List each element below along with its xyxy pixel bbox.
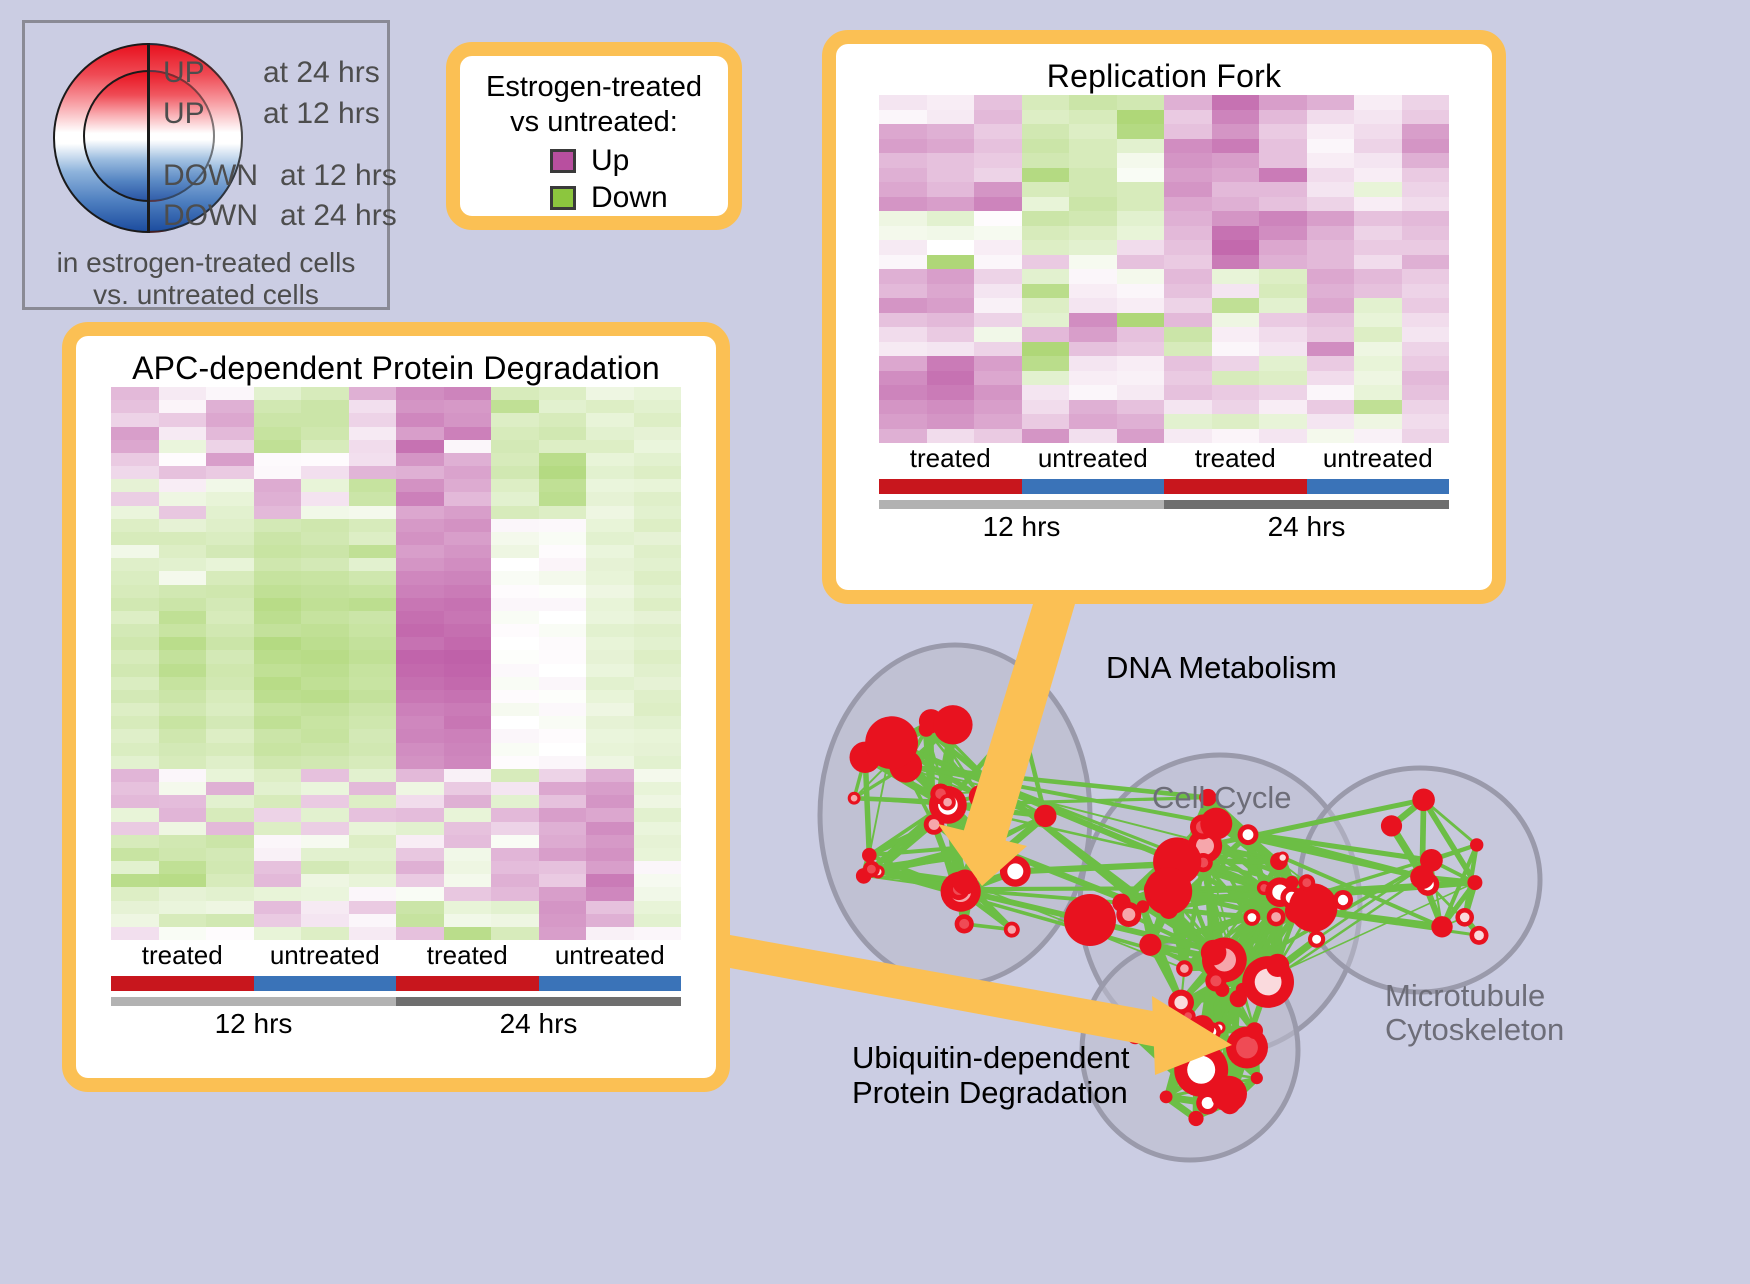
- heatmap-cell: [396, 795, 444, 808]
- heatmap-cell: [491, 782, 539, 795]
- heatmap-cell: [634, 729, 682, 742]
- heatmap-cell: [1307, 124, 1355, 139]
- heatmap-cell: [1354, 327, 1402, 342]
- heatmap-cell: [1022, 385, 1070, 400]
- heatmap-cell: [974, 168, 1022, 183]
- network-node-core: [1122, 908, 1135, 921]
- heatmap-cell: [634, 782, 682, 795]
- heatmap-cell: [634, 611, 682, 624]
- heatmap-cell: [206, 716, 254, 729]
- heatmap-cell: [1069, 255, 1117, 270]
- heatmap-cell: [1259, 168, 1307, 183]
- heatmap-cell: [879, 168, 927, 183]
- heatmap-cell: [1022, 356, 1070, 371]
- heatmap-cell: [159, 914, 207, 927]
- network-node[interactable]: [1431, 916, 1452, 937]
- heatmap-cell: [1354, 153, 1402, 168]
- heatmap-cell: [444, 782, 492, 795]
- heatmap-cell: [1022, 327, 1070, 342]
- heatmap-cell: [1259, 327, 1307, 342]
- heatmap-cell: [254, 492, 302, 505]
- heatmap-cell: [539, 769, 587, 782]
- heatmap-cell: [444, 664, 492, 677]
- heatmap-cell: [1117, 385, 1165, 400]
- heatmap-cell: [111, 835, 159, 848]
- network-node[interactable]: [865, 716, 918, 769]
- heatmap-cell: [349, 650, 397, 663]
- heatmap-cell: [349, 558, 397, 571]
- heatmap-cell: [634, 664, 682, 677]
- time-label: 12 hrs: [111, 1008, 396, 1040]
- heatmap-cell: [1354, 298, 1402, 313]
- heatmap-cell: [1402, 400, 1450, 415]
- heatmap-cell: [206, 861, 254, 874]
- heatmap-cell: [1022, 298, 1070, 313]
- heatmap-cell: [444, 887, 492, 900]
- heatmap-cell: [254, 664, 302, 677]
- heatmap-cell: [634, 861, 682, 874]
- heatmap-cell: [879, 240, 927, 255]
- heatmap-cell: [879, 124, 927, 139]
- heatmap-cell: [634, 427, 682, 440]
- heatmap-cell: [111, 413, 159, 426]
- heatmap-cell: [1022, 255, 1070, 270]
- heatmap-cell: [349, 677, 397, 690]
- heatmap-cell: [1117, 255, 1165, 270]
- network-node-core: [867, 865, 876, 874]
- heatmap-cell: [539, 453, 587, 466]
- network-node[interactable]: [1266, 954, 1289, 977]
- heatmap-cell: [634, 466, 682, 479]
- treatment-bar-segment: [1307, 479, 1450, 494]
- heatmap-cell: [254, 927, 302, 940]
- heatmap-cell: [927, 327, 975, 342]
- heatmap-cell: [586, 611, 634, 624]
- heatmap-cell: [974, 95, 1022, 110]
- network-node[interactable]: [1139, 934, 1161, 956]
- heatmap-cell: [111, 677, 159, 690]
- heatmap-cell: [586, 532, 634, 545]
- time-label: 12 hrs: [879, 511, 1164, 543]
- heatmap-cell: [206, 835, 254, 848]
- heatmap-cell: [1402, 298, 1450, 313]
- heatmap-cell: [491, 585, 539, 598]
- heatmap-cell: [1164, 414, 1212, 429]
- heatmap-cell: [254, 887, 302, 900]
- heatmap-cell: [491, 558, 539, 571]
- heatmap-cell: [1402, 255, 1450, 270]
- heatmap-cell: [301, 400, 349, 413]
- heatmap-cell: [1354, 269, 1402, 284]
- heatmap-cell: [1164, 400, 1212, 415]
- heatmap-cell: [1212, 298, 1260, 313]
- network-node[interactable]: [1289, 883, 1338, 932]
- heatmap-cell: [1402, 226, 1450, 241]
- heatmap-cell: [1259, 342, 1307, 357]
- heatmap-cell: [879, 327, 927, 342]
- network-svg: [790, 600, 1750, 1279]
- heatmap-cell: [444, 492, 492, 505]
- network-node-core: [851, 795, 858, 802]
- heatmap-cell: [444, 703, 492, 716]
- heatmap-cell: [634, 703, 682, 716]
- heatmap-cell: [396, 677, 444, 690]
- heatmap-cell: [491, 703, 539, 716]
- heatmap-cell: [254, 690, 302, 703]
- heatmap-cell: [1164, 429, 1212, 444]
- heatmap-cell: [301, 598, 349, 611]
- heatmap-cell: [1164, 168, 1212, 183]
- group-label: untreated: [1307, 443, 1450, 474]
- network-node[interactable]: [1412, 789, 1435, 812]
- heatmap-cell: [1212, 182, 1260, 197]
- network-node[interactable]: [1188, 1111, 1203, 1126]
- heatmap-cell: [349, 808, 397, 821]
- heatmap-cell: [491, 400, 539, 413]
- heatmap-cell: [586, 874, 634, 887]
- heatmap-cell: [1022, 429, 1070, 444]
- heatmap-cell: [111, 861, 159, 874]
- heatmap-cell: [1402, 211, 1450, 226]
- heatmap-cell: [879, 153, 927, 168]
- heatmap-cell: [586, 440, 634, 453]
- heatmap-cell: [927, 429, 975, 444]
- heatmap-cell: [349, 729, 397, 742]
- heatmap-cell: [491, 387, 539, 400]
- heatmap-cell: [927, 385, 975, 400]
- heatmap-cell: [539, 743, 587, 756]
- heatmap-cell: [301, 571, 349, 584]
- heatmap-cell: [159, 571, 207, 584]
- heatmap-cell: [539, 598, 587, 611]
- heatmap-cell: [301, 387, 349, 400]
- heatmap-cell: [254, 914, 302, 927]
- heatmap-cell: [301, 650, 349, 663]
- heatmap-cell: [349, 637, 397, 650]
- heatmap-cell: [491, 822, 539, 835]
- network-node[interactable]: [1034, 805, 1056, 827]
- heatmap-cell: [349, 624, 397, 637]
- network-node[interactable]: [1064, 894, 1116, 946]
- heatmap-cell: [491, 545, 539, 558]
- heatmap-cell: [1022, 182, 1070, 197]
- network-node[interactable]: [1410, 865, 1434, 889]
- heatmap-cell: [491, 927, 539, 940]
- heatmap-cell: [349, 427, 397, 440]
- heatmap-cell: [206, 585, 254, 598]
- heatmap-cell: [1117, 313, 1165, 328]
- network-node[interactable]: [933, 705, 972, 744]
- heatmap-cell: [1164, 211, 1212, 226]
- heatmap-cell: [444, 914, 492, 927]
- heatmap-cell: [1212, 269, 1260, 284]
- heatmap-cell: [159, 650, 207, 663]
- heatmap-cell: [206, 769, 254, 782]
- network-node[interactable]: [1470, 838, 1483, 851]
- heatmap-cell: [254, 519, 302, 532]
- heatmap-cell: [1117, 124, 1165, 139]
- heatmap-cell: [159, 479, 207, 492]
- heatmap-cell: [1259, 240, 1307, 255]
- heatmap-cell: [1022, 153, 1070, 168]
- heatmap-cell: [254, 387, 302, 400]
- network-node[interactable]: [1201, 940, 1227, 966]
- heatmap-cell: [539, 532, 587, 545]
- heatmap-cell: [586, 479, 634, 492]
- heatmap-cell: [206, 677, 254, 690]
- heatmap-cell: [634, 571, 682, 584]
- heatmap-cell: [927, 168, 975, 183]
- network-node[interactable]: [1160, 1091, 1173, 1104]
- heatmap-cell: [1402, 414, 1450, 429]
- heatmap-cell: [491, 427, 539, 440]
- heatmap-cell: [1259, 356, 1307, 371]
- heatmap-cell: [301, 492, 349, 505]
- heatmap-cell: [254, 506, 302, 519]
- heatmap-cell: [927, 139, 975, 154]
- network-node[interactable]: [1220, 1094, 1241, 1115]
- heatmap-cell: [111, 756, 159, 769]
- apc-group-labels: treateduntreatedtreateduntreated: [111, 940, 681, 971]
- heatmap-cell: [206, 492, 254, 505]
- heatmap-cell: [1069, 153, 1117, 168]
- network-node[interactable]: [1467, 875, 1482, 890]
- heatmap-cell: [396, 664, 444, 677]
- heatmap-cell: [396, 558, 444, 571]
- legend-state-down-12: DOWN: [163, 159, 258, 193]
- heatmap-cell: [491, 795, 539, 808]
- heatmap-cell: [444, 677, 492, 690]
- heatmap-cell: [974, 400, 1022, 415]
- heatmap-cell: [1354, 313, 1402, 328]
- heatmap-cell: [254, 598, 302, 611]
- network-node[interactable]: [1246, 1022, 1263, 1039]
- legend-item-up: Up: [550, 144, 728, 178]
- legend-time-down-12: at 12 hrs: [280, 159, 397, 193]
- network-node[interactable]: [988, 779, 1012, 803]
- heatmap-cell: [301, 927, 349, 940]
- heatmap-cell: [1212, 153, 1260, 168]
- legend-time-down-24: at 24 hrs: [280, 199, 397, 233]
- heatmap-cell: [254, 440, 302, 453]
- heatmap-cell: [159, 585, 207, 598]
- heatmap-cell: [879, 182, 927, 197]
- heatmap-cell: [491, 519, 539, 532]
- heatmap-cell: [539, 624, 587, 637]
- heatmap-cell: [1069, 269, 1117, 284]
- heatmap-cell: [1307, 400, 1355, 415]
- heatmap-cell: [586, 650, 634, 663]
- heatmap-cell: [634, 887, 682, 900]
- heatmap-cell: [159, 822, 207, 835]
- heatmap-cell: [444, 756, 492, 769]
- heatmap-cell: [1164, 298, 1212, 313]
- heatmap-cell: [206, 624, 254, 637]
- apc-heatmap: [111, 387, 681, 940]
- heatmap-cell: [444, 637, 492, 650]
- heatmap-cell: [491, 479, 539, 492]
- heatmap-cell: [111, 729, 159, 742]
- heatmap-cell: [1022, 313, 1070, 328]
- heatmap-cell: [206, 795, 254, 808]
- heatmap-cell: [491, 664, 539, 677]
- heatmap-cell: [1354, 124, 1402, 139]
- network-node[interactable]: [1188, 1017, 1208, 1037]
- heatmap-cell: [206, 690, 254, 703]
- heatmap-cell: [444, 927, 492, 940]
- heatmap-cell: [586, 756, 634, 769]
- network-node[interactable]: [1144, 878, 1167, 901]
- heatmap-cell: [491, 887, 539, 900]
- replication-fork-time-bar: [879, 500, 1449, 509]
- heatmap-cell: [159, 427, 207, 440]
- treatment-bar-segment: [1164, 479, 1307, 494]
- heatmap-cell: [349, 400, 397, 413]
- heatmap-cell: [1354, 95, 1402, 110]
- network-node-core: [1474, 931, 1484, 941]
- heatmap-cell: [396, 387, 444, 400]
- heatmap-cell: [1069, 342, 1117, 357]
- heatmap-cell: [206, 466, 254, 479]
- heatmap-cell: [879, 400, 927, 415]
- network-node[interactable]: [952, 870, 977, 895]
- heatmap-cell: [349, 782, 397, 795]
- heatmap-cell: [1164, 226, 1212, 241]
- network-node[interactable]: [969, 785, 992, 808]
- heatmap-cell: [491, 413, 539, 426]
- heatmap-cell: [254, 729, 302, 742]
- heatmap-cell: [586, 690, 634, 703]
- heatmap-cell: [586, 848, 634, 861]
- heatmap-cell: [301, 624, 349, 637]
- heatmap-cell: [159, 874, 207, 887]
- heatmap-cell: [634, 716, 682, 729]
- heatmap-cell: [206, 650, 254, 663]
- heatmap-cell: [301, 703, 349, 716]
- heatmap-cell: [974, 298, 1022, 313]
- heatmap-cell: [1069, 211, 1117, 226]
- heatmap-cell: [1307, 139, 1355, 154]
- heatmap-cell: [254, 874, 302, 887]
- heatmap-cell: [879, 211, 927, 226]
- group-label: untreated: [1022, 443, 1165, 474]
- heatmap-cell: [111, 598, 159, 611]
- heatmap-cell: [206, 611, 254, 624]
- heatmap-cell: [254, 637, 302, 650]
- heatmap-cell: [159, 545, 207, 558]
- heatmap-cell: [1022, 95, 1070, 110]
- heatmap-cell: [1402, 124, 1450, 139]
- heatmap-cell: [254, 650, 302, 663]
- heatmap-cell: [254, 808, 302, 821]
- heatmap-cell: [1069, 240, 1117, 255]
- heatmap-cell: [206, 571, 254, 584]
- heatmap-cell: [634, 690, 682, 703]
- heatmap-cell: [1354, 226, 1402, 241]
- heatmap-cell: [159, 400, 207, 413]
- network-node[interactable]: [1011, 710, 1031, 730]
- legend-state-up-24: UP: [163, 56, 205, 90]
- heatmap-cell: [586, 887, 634, 900]
- network-node[interactable]: [862, 848, 877, 863]
- heatmap-cell: [301, 466, 349, 479]
- heatmap-cell: [634, 874, 682, 887]
- heatmap-cell: [927, 110, 975, 125]
- heatmap-cell: [879, 95, 927, 110]
- heatmap-cell: [396, 585, 444, 598]
- heatmap-cell: [1164, 124, 1212, 139]
- heatmap-cell: [254, 624, 302, 637]
- group-label: untreated: [539, 940, 682, 971]
- heatmap-cell: [974, 240, 1022, 255]
- heatmap-cell: [879, 197, 927, 212]
- heatmap-cell: [1212, 385, 1260, 400]
- heatmap-cell: [1117, 95, 1165, 110]
- legend-up-down: Estrogen-treated vs untreated: Up Down: [446, 42, 742, 230]
- heatmap-cell: [927, 298, 975, 313]
- heatmap-cell: [1259, 110, 1307, 125]
- heatmap-cell: [159, 664, 207, 677]
- heatmap-cell: [159, 703, 207, 716]
- heatmap-cell: [254, 782, 302, 795]
- heatmap-cell: [1402, 269, 1450, 284]
- heatmap-cell: [586, 545, 634, 558]
- heatmap-cell: [1307, 298, 1355, 313]
- heatmap-cell: [634, 743, 682, 756]
- heatmap-cell: [539, 519, 587, 532]
- heatmap-cell: [491, 901, 539, 914]
- heatmap-cell: [927, 255, 975, 270]
- heatmap-cell: [396, 571, 444, 584]
- heatmap-cell: [349, 769, 397, 782]
- heatmap-cell: [1117, 342, 1165, 357]
- heatmap-cell: [396, 756, 444, 769]
- heatmap-cell: [301, 716, 349, 729]
- heatmap-cell: [159, 492, 207, 505]
- heatmap-cell: [927, 371, 975, 386]
- heatmap-cell: [444, 743, 492, 756]
- heatmap-cell: [396, 624, 444, 637]
- heatmap-cell: [586, 400, 634, 413]
- heatmap-cell: [927, 313, 975, 328]
- network-node[interactable]: [1381, 815, 1402, 836]
- heatmap-cell: [491, 492, 539, 505]
- heatmap-cell: [1307, 327, 1355, 342]
- heatmap-cell: [539, 690, 587, 703]
- heatmap-cell: [1259, 371, 1307, 386]
- heatmap-cell: [444, 650, 492, 663]
- group-label: treated: [1164, 443, 1307, 474]
- heatmap-cell: [349, 703, 397, 716]
- heatmap-cell: [539, 479, 587, 492]
- heatmap-cell: [206, 506, 254, 519]
- treatment-bar-segment: [1022, 479, 1165, 494]
- heatmap-cell: [206, 808, 254, 821]
- heatmap-cell: [974, 284, 1022, 299]
- heatmap-cell: [634, 835, 682, 848]
- heatmap-cell: [1354, 240, 1402, 255]
- network-edge: [959, 888, 1264, 889]
- heatmap-cell: [1307, 371, 1355, 386]
- heatmap-cell: [634, 901, 682, 914]
- heatmap-cell: [254, 795, 302, 808]
- heatmap-cell: [974, 429, 1022, 444]
- heatmap-cell: [444, 624, 492, 637]
- heatmap-cell: [974, 226, 1022, 241]
- network-node-core: [1210, 975, 1221, 986]
- network-node[interactable]: [1251, 1072, 1263, 1084]
- network-node-core: [1243, 829, 1254, 840]
